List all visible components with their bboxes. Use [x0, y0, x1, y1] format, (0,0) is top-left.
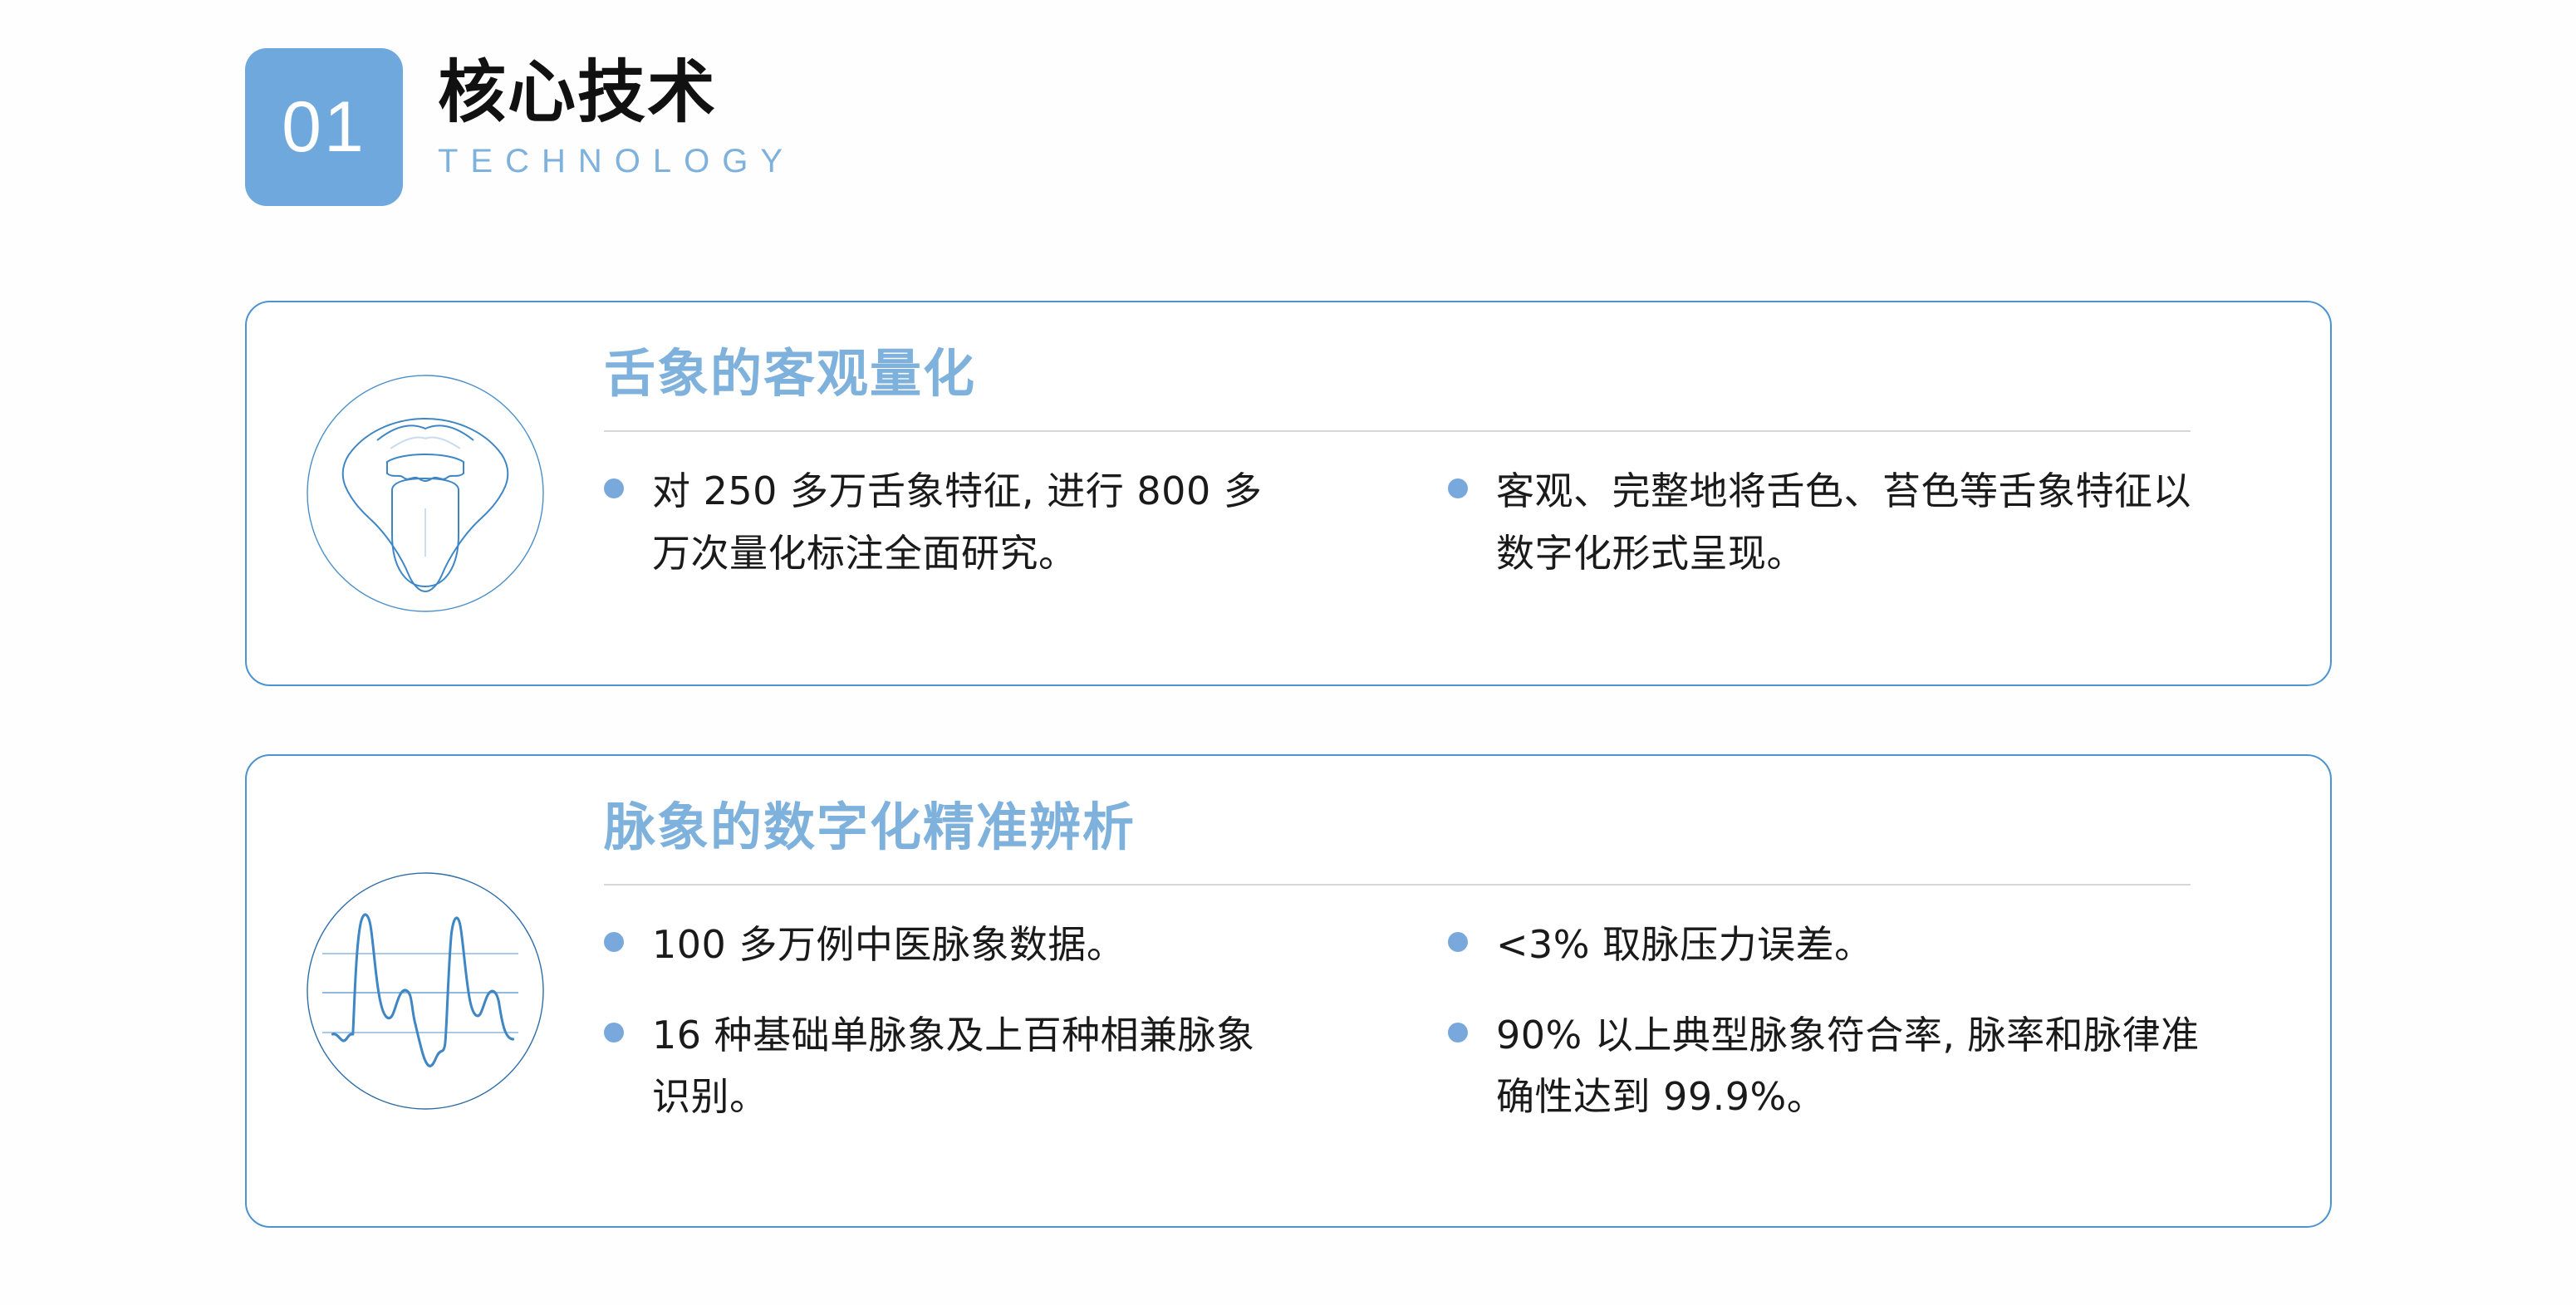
bullet-dot-icon [1448, 932, 1468, 952]
tongue-outline-icon [301, 369, 550, 618]
section-number: 01 [282, 91, 366, 163]
bullet-column-right: <3% 取脉压力误差。 90% 以上典型脉象符合率, 脉率和脉律准确性达到 99… [1443, 914, 2282, 1128]
bullet-dot-icon [604, 1023, 624, 1043]
bullet-grid: 100 多万例中医脉象数据。 16 种基础单脉象及上百种相兼脉象识别。 <3% … [604, 914, 2282, 1128]
bullet-dot-icon [604, 478, 624, 498]
bullet-dot-icon [604, 932, 624, 952]
card-tongue-quantification: 舌象的客观量化 对 250 多万舌象特征, 进行 800 多万次量化标注全面研究… [245, 301, 2332, 686]
section-header: 01 核心技术 TECHNOLOGY [245, 48, 795, 206]
bullet-dot-icon [1448, 478, 1468, 498]
page-subtitle: TECHNOLOGY [438, 143, 795, 180]
list-item: <3% 取脉压力误差。 [1448, 914, 2282, 976]
list-item: 90% 以上典型脉象符合率, 脉率和脉律准确性达到 99.9%。 [1448, 1004, 2282, 1128]
list-item: 100 多万例中医脉象数据。 [604, 914, 1385, 976]
list-item: 客观、完整地将舌色、苔色等舌象特征以数字化形式呈现。 [1448, 460, 2282, 584]
header-text-block: 核心技术 TECHNOLOGY [438, 48, 795, 180]
bullet-text: 100 多万例中医脉象数据。 [652, 914, 1125, 976]
card-title: 舌象的客观量化 [604, 346, 2282, 402]
bullet-dot-icon [1448, 1023, 1468, 1043]
bullet-text: <3% 取脉压力误差。 [1496, 914, 1873, 976]
card-pulse-body: 脉象的数字化精准辨析 100 多万例中医脉象数据。 16 种基础单脉象及上百种相… [604, 756, 2330, 1128]
bullet-column-right: 客观、完整地将舌色、苔色等舌象特征以数字化形式呈现。 [1443, 460, 2282, 584]
bullet-column-left: 对 250 多万舌象特征, 进行 800 多万次量化标注全面研究。 [604, 460, 1443, 584]
page-title: 核心技术 [438, 55, 795, 131]
bullet-text: 16 种基础单脉象及上百种相兼脉象识别。 [652, 1004, 1267, 1128]
bullet-text: 客观、完整地将舌色、苔色等舌象特征以数字化形式呈现。 [1496, 460, 2227, 584]
card-tongue-body: 舌象的客观量化 对 250 多万舌象特征, 进行 800 多万次量化标注全面研究… [604, 302, 2330, 584]
pulse-icon-wrap [247, 756, 604, 1226]
card-pulse-analysis: 脉象的数字化精准辨析 100 多万例中医脉象数据。 16 种基础单脉象及上百种相… [245, 754, 2332, 1228]
pulse-waveform-icon [301, 866, 550, 1116]
card-divider [604, 430, 2191, 432]
tongue-icon-wrap [247, 302, 604, 684]
bullet-column-left: 100 多万例中医脉象数据。 16 种基础单脉象及上百种相兼脉象识别。 [604, 914, 1443, 1128]
bullet-text: 对 250 多万舌象特征, 进行 800 多万次量化标注全面研究。 [652, 460, 1267, 584]
bullet-text: 90% 以上典型脉象符合率, 脉率和脉律准确性达到 99.9%。 [1496, 1004, 2227, 1128]
card-divider [604, 884, 2191, 886]
list-item: 16 种基础单脉象及上百种相兼脉象识别。 [604, 1004, 1385, 1128]
bullet-grid: 对 250 多万舌象特征, 进行 800 多万次量化标注全面研究。 客观、完整地… [604, 460, 2282, 584]
card-title: 脉象的数字化精准辨析 [604, 799, 2282, 856]
section-number-badge: 01 [245, 48, 403, 206]
list-item: 对 250 多万舌象特征, 进行 800 多万次量化标注全面研究。 [604, 460, 1385, 584]
